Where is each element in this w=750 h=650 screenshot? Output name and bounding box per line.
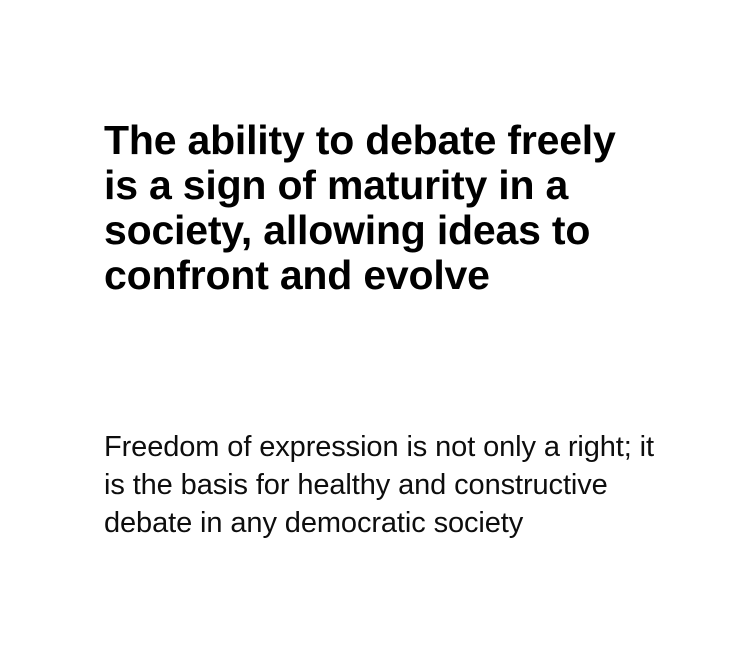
body-paragraph: Freedom of expression is not only a righ… — [104, 428, 656, 542]
subtext-block: Freedom of expression is not only a righ… — [104, 428, 656, 542]
page-title: The ability to debate freely is a sign o… — [104, 118, 656, 298]
headline-block: The ability to debate freely is a sign o… — [104, 118, 656, 298]
slide-canvas: The ability to debate freely is a sign o… — [0, 0, 750, 650]
